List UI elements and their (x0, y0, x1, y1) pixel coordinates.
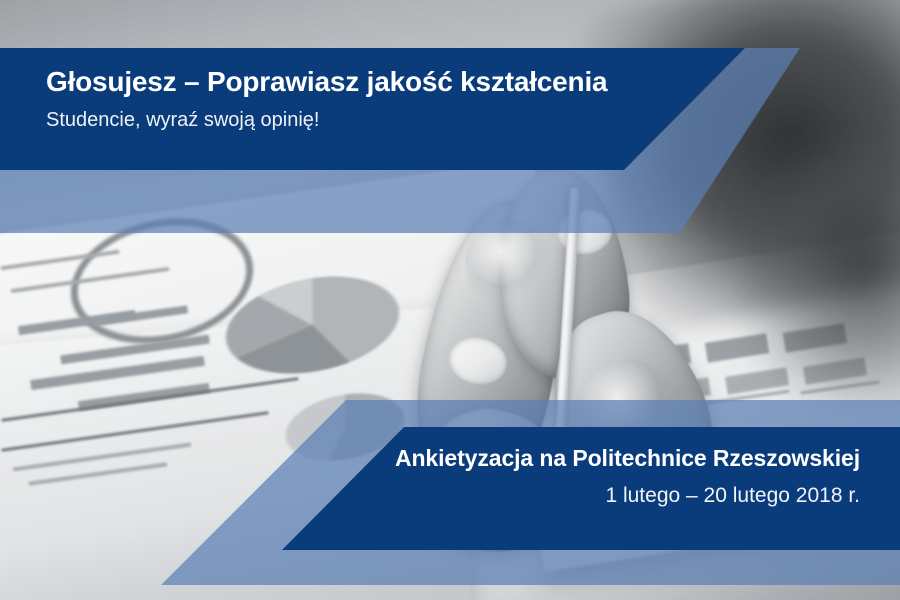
poster-root: Głosujesz – Poprawiasz jakość kształceni… (0, 0, 900, 600)
top-banner-subline: Studencie, wyraź swoją opinię! (46, 108, 696, 132)
top-banner-headline: Głosujesz – Poprawiasz jakość kształceni… (46, 66, 696, 98)
top-banner-text-block: Głosujesz – Poprawiasz jakość kształceni… (46, 66, 696, 132)
bottom-banner-dates: 1 lutego – 20 lutego 2018 r. (395, 483, 860, 508)
bottom-banner-title: Ankietyzacja na Politechnice Rzeszowskie… (395, 445, 860, 473)
bottom-banner-text-block: Ankietyzacja na Politechnice Rzeszowskie… (395, 445, 860, 508)
